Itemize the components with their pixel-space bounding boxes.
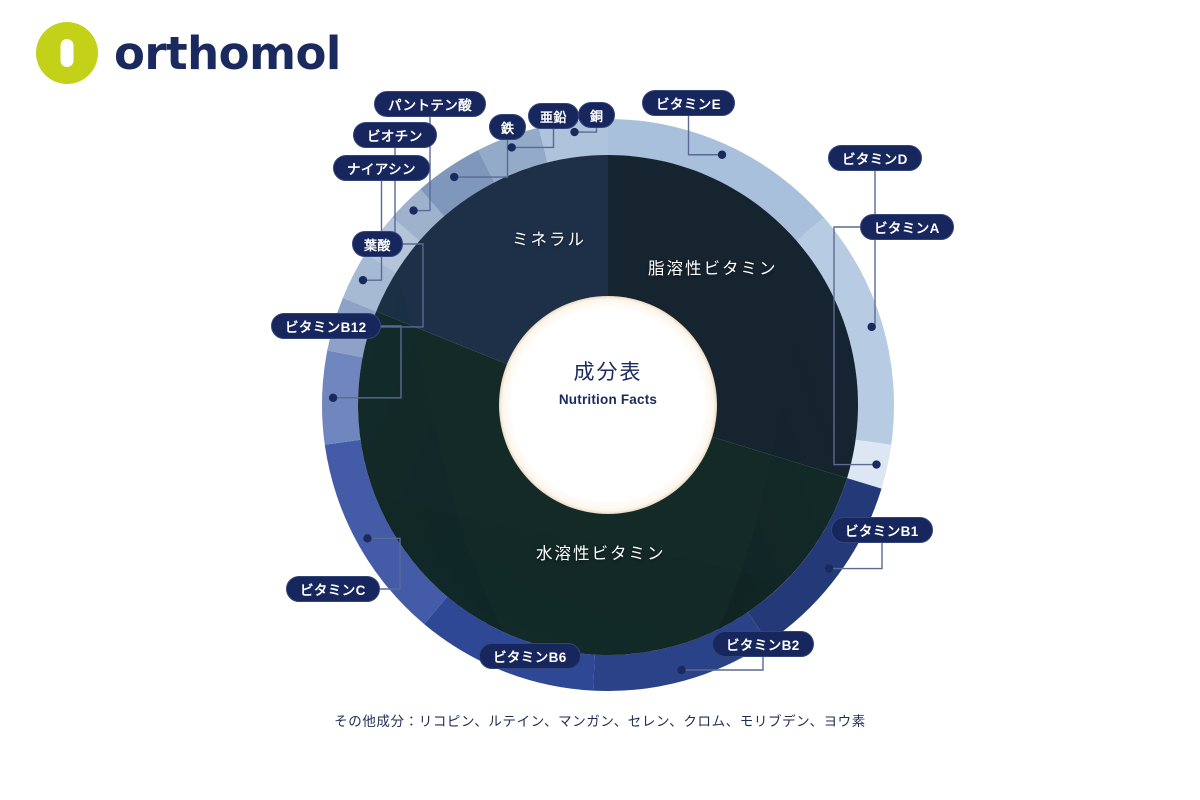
callout-pill[interactable]: ビタミンA (860, 214, 954, 240)
callout-dot (329, 394, 337, 402)
callout-dot (718, 151, 726, 159)
callout-dot (507, 143, 515, 151)
infographic-canvas: orthomol (0, 0, 1200, 800)
callout-dot (570, 128, 578, 136)
callout-dot (359, 276, 367, 284)
callout-pill[interactable]: 銅 (578, 102, 615, 128)
centre-label: 成分表 Nutrition Facts (488, 360, 728, 407)
callout-dot (363, 534, 371, 542)
callout-pill[interactable]: 亜鉛 (528, 103, 579, 129)
callout-pill[interactable]: 鉄 (489, 114, 526, 140)
callout-pill[interactable]: ビタミンB1 (831, 517, 933, 543)
category-label: 水溶性ビタミン (536, 540, 666, 564)
callout-pill[interactable]: ナイアシン (333, 155, 430, 181)
centre-title-en: Nutrition Facts (488, 392, 728, 407)
other-ingredients-note: その他成分：リコピン、ルテイン、マンガン、セレン、クロム、モリブデン、ヨウ素 (0, 710, 1200, 730)
callout-pill[interactable]: ビオチン (353, 122, 437, 148)
callout-dot (409, 206, 417, 214)
callout-pill[interactable]: ビタミンB2 (712, 631, 814, 657)
nutrition-donut-chart: 脂溶性ビタミン水溶性ビタミンミネラル 成分表 Nutrition Facts パ… (0, 0, 1200, 800)
callout-dot (825, 564, 833, 572)
category-label: ミネラル (512, 226, 586, 250)
callout-dot (867, 323, 875, 331)
centre-title-jp: 成分表 (488, 360, 728, 386)
callout-pill[interactable]: 葉酸 (352, 231, 403, 257)
callout-pill[interactable]: ビタミンB12 (271, 313, 381, 339)
callout-pill[interactable]: ビタミンC (286, 576, 380, 602)
callout-dot (677, 666, 685, 674)
callout-pill[interactable]: ビタミンE (642, 90, 735, 116)
callout-dot (872, 460, 880, 468)
category-label: 脂溶性ビタミン (648, 255, 778, 279)
callout-pill[interactable]: パントテン酸 (374, 91, 486, 117)
callout-dot (450, 173, 458, 181)
callout-pill[interactable]: ビタミンB6 (479, 643, 581, 669)
callout-pill[interactable]: ビタミンD (828, 145, 922, 171)
